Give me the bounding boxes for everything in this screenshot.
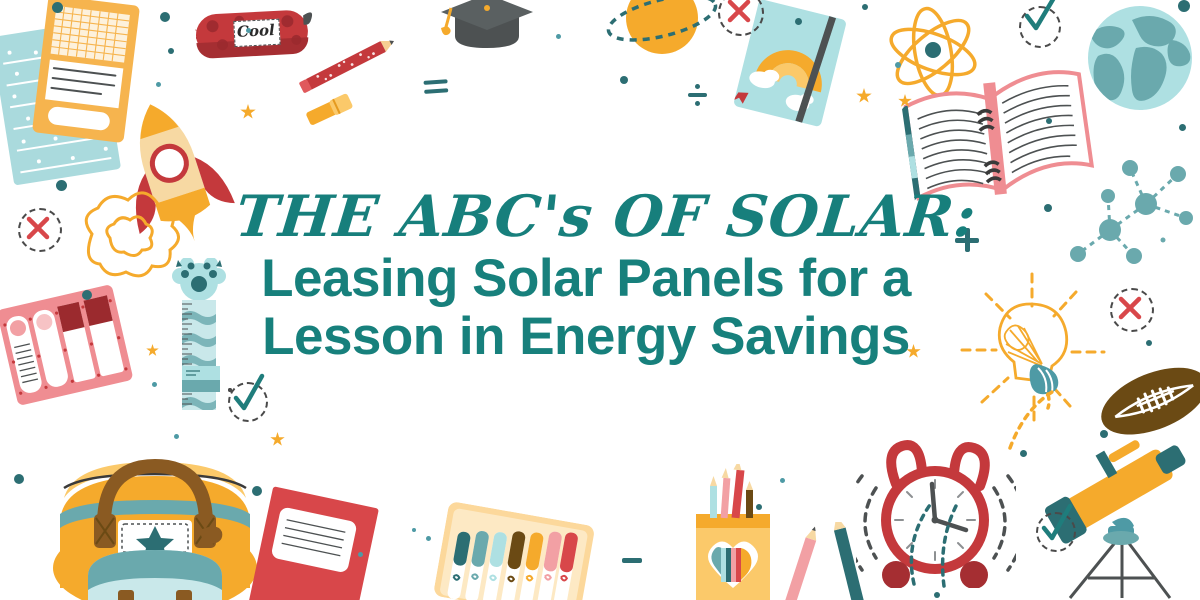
cross-circle	[18, 208, 62, 252]
dot	[156, 82, 161, 87]
dot	[756, 504, 762, 510]
title-line-2: Leasing Solar Panels for a	[236, 250, 936, 308]
pencil-case-label: Cool	[233, 21, 278, 41]
pencil-box-heart	[690, 496, 780, 600]
dot	[1100, 430, 1108, 438]
dot	[82, 290, 92, 300]
backpack	[30, 418, 280, 600]
dot	[174, 434, 179, 439]
dot	[862, 4, 868, 10]
dot	[620, 76, 628, 84]
dot	[1146, 340, 1152, 346]
dot	[426, 536, 431, 541]
dot	[252, 486, 262, 496]
dot	[780, 478, 785, 483]
minus-sign	[622, 558, 642, 563]
dashed-squiggle	[900, 498, 970, 588]
dot	[412, 528, 416, 532]
marker-set	[433, 501, 607, 600]
star	[856, 88, 872, 104]
title-script-line: THE ABC's OF SOLAR:	[233, 186, 940, 248]
dot	[14, 474, 24, 484]
dot	[895, 62, 901, 68]
dot	[1178, 0, 1190, 12]
dot	[1044, 204, 1052, 212]
graduation-cap	[437, 0, 547, 62]
cross-circle	[1110, 288, 1154, 332]
cross-circle	[718, 0, 764, 36]
page-title: THE ABC's OF SOLAR: Leasing Solar Panels…	[236, 186, 936, 366]
dashed-squiggle	[1000, 390, 1070, 450]
pencil-case: Cool	[195, 5, 316, 63]
check-circle	[1036, 512, 1076, 552]
molecule	[1068, 160, 1200, 284]
check-circle	[228, 388, 232, 392]
dot	[56, 180, 67, 191]
check-circle	[228, 382, 268, 422]
equals-sign	[423, 79, 450, 97]
dot	[152, 382, 157, 387]
star	[146, 344, 159, 357]
poster-canvas: THE ABC's OF SOLAR: Leasing Solar Panels…	[0, 0, 1200, 600]
check-circle	[1019, 6, 1061, 48]
dot	[1179, 124, 1186, 131]
saturn-planet	[598, 0, 718, 80]
globe	[1088, 6, 1192, 110]
division-sign	[688, 84, 708, 106]
card-snippet	[182, 366, 220, 392]
dot	[934, 592, 940, 598]
rocket-smoke-cloud	[70, 190, 180, 292]
dot	[246, 28, 251, 33]
title-line-3: Lesson in Energy Savings	[236, 308, 936, 366]
dot	[795, 18, 802, 25]
paint-palette	[0, 284, 134, 406]
dot	[1046, 118, 1052, 124]
dot	[1020, 450, 1027, 457]
star	[240, 104, 256, 120]
dot	[160, 12, 170, 22]
dot	[52, 2, 63, 13]
dot	[168, 48, 174, 54]
dot	[358, 552, 363, 557]
dot	[556, 34, 561, 39]
